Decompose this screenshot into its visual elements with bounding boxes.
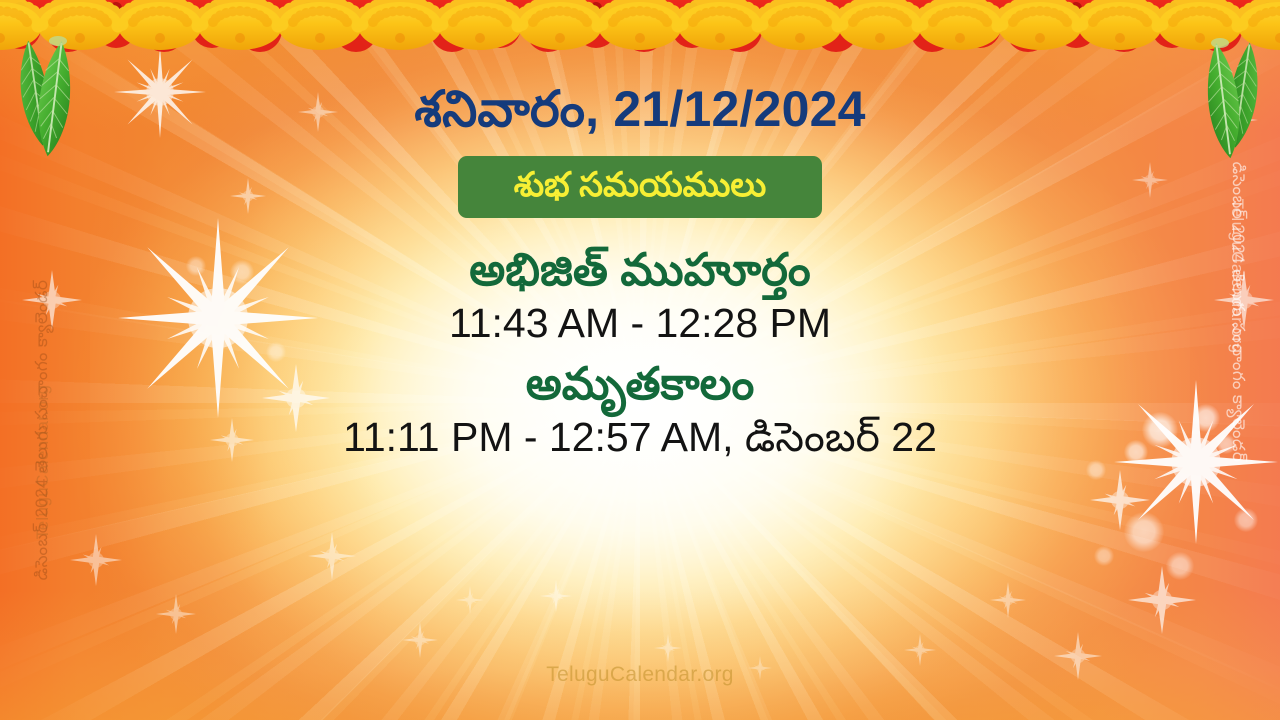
page-title: శనివారం, 21/12/2024 [414, 82, 865, 136]
section-time-abhijit-muhurtam: 11:43 AM - 12:28 PM [449, 299, 831, 347]
status-badge: శుభ సమయములు [458, 156, 823, 218]
card-content: శనివారం, 21/12/2024 శుభ సమయములు అభిజిత్ … [0, 0, 1280, 720]
section-heading-abhijit-muhurtam: అభిజిత్ ముహూర్తం [469, 244, 810, 295]
greeting-card: డిసెంబర్ 2024 తెలుగు పంచాంగం క్యాలెండర్ … [0, 0, 1280, 720]
section-time-amrutakalam: 11:11 PM - 12:57 AM, డిసెంబర్ 22 [343, 413, 937, 461]
section-heading-amrutakalam: అమృతకాలం [526, 358, 755, 409]
